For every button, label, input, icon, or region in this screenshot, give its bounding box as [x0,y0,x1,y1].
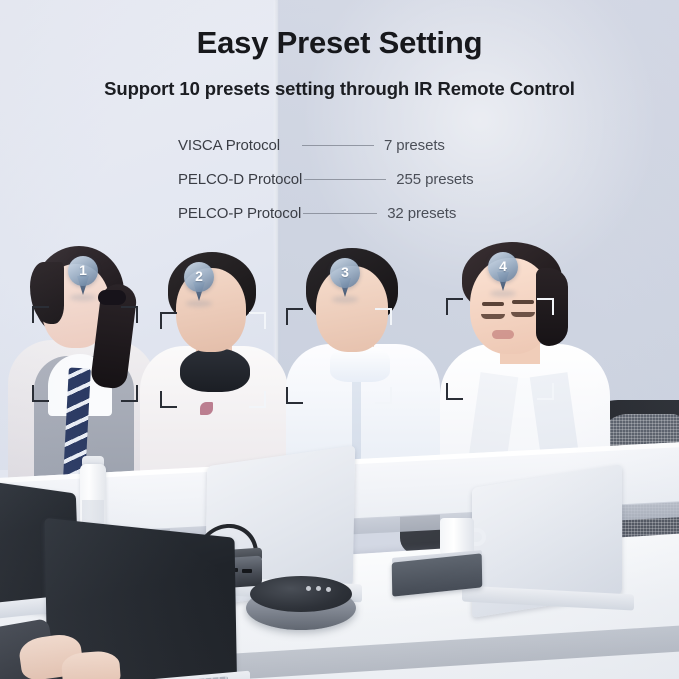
protocol-list: VISCA Protocol 7 presets PELCO-D Protoco… [178,128,508,230]
preset-pin-1[interactable]: 1 [68,256,98,296]
face-tracking-bracket [32,306,138,402]
protocol-label: VISCA Protocol [178,137,280,154]
preset-number: 2 [184,262,214,290]
protocol-label: PELCO-P Protocol [178,205,301,222]
bottle-label [82,500,104,524]
pin-shadow [490,290,516,297]
protocol-value: 255 presets [396,171,473,188]
face-tracking-bracket [160,312,266,408]
protocol-row: PELCO-D Protocol 255 presets [178,162,508,196]
page-title: Easy Preset Setting [0,26,679,60]
pin-shadow [186,300,212,307]
face-tracking-bracket [446,298,554,400]
preset-pin-2[interactable]: 2 [184,262,214,302]
protocol-value: 7 presets [384,137,445,154]
face-tracking-bracket [286,308,392,404]
connector-line [303,213,377,214]
connector-line [304,179,386,180]
preset-pin-3[interactable]: 3 [330,258,360,298]
protocol-row: PELCO-P Protocol 32 presets [178,196,508,230]
protocol-row: VISCA Protocol 7 presets [178,128,508,162]
page-subtitle: Support 10 presets setting through IR Re… [0,78,679,100]
preset-number: 4 [488,252,518,280]
person-hair-tie [98,290,126,305]
preset-number: 3 [330,258,360,286]
pin-shadow [332,296,358,303]
speakerphone-led [306,586,311,591]
protocol-value: 32 presets [387,205,456,222]
pin-shadow [70,294,96,301]
product-marketing-image: Easy Preset Setting Support 10 presets s… [0,0,679,679]
protocol-label: PELCO-D Protocol [178,171,302,188]
preset-number: 1 [68,256,98,284]
speakerphone-led [326,587,331,592]
hub-port [242,569,252,573]
speakerphone-top [250,576,352,612]
connector-line [302,145,374,146]
speakerphone-led [316,586,321,591]
header: Easy Preset Setting Support 10 presets s… [0,0,679,100]
preset-pin-4[interactable]: 4 [488,252,518,292]
